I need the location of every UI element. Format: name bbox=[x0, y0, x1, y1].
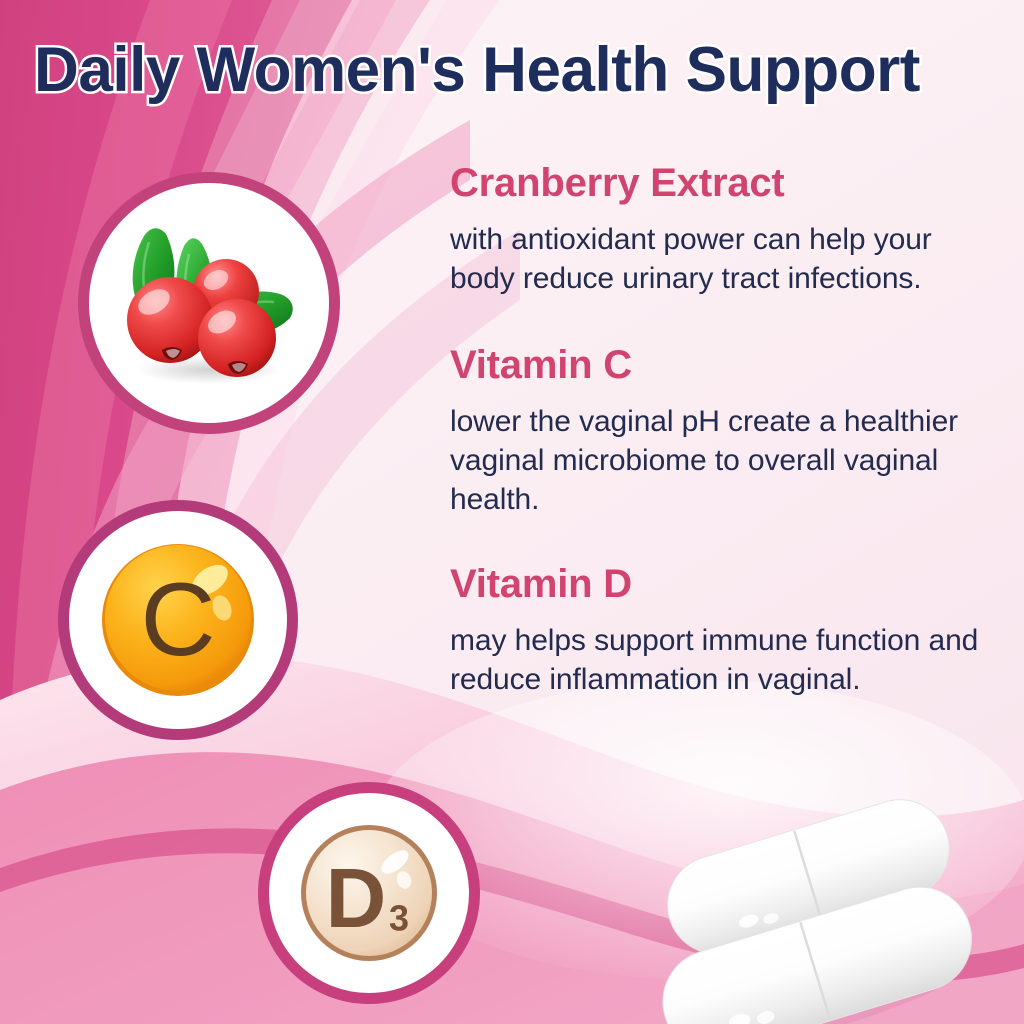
section-vitamin-c-body: lower the vaginal pH create a healthier … bbox=[450, 402, 995, 519]
vitamin-c-icon-circle: C bbox=[58, 500, 298, 740]
vitamin-d-icon: D 3 bbox=[294, 818, 444, 968]
section-vitamin-d-title: Vitamin D bbox=[450, 561, 995, 607]
page-title: Daily Women's Health Support bbox=[34, 36, 985, 104]
section-vitamin-c-title: Vitamin C bbox=[450, 342, 995, 388]
section-cranberry-body: with antioxidant power can help your bod… bbox=[450, 220, 995, 298]
vitamin-c-icon: C bbox=[94, 536, 262, 704]
section-cranberry-title: Cranberry Extract bbox=[450, 160, 995, 206]
vitamin-d-subscript: 3 bbox=[389, 898, 409, 939]
cranberry-icon bbox=[104, 198, 314, 408]
cranberry-icon-circle bbox=[78, 172, 340, 434]
section-cranberry: Cranberry Extract with antioxidant power… bbox=[450, 160, 995, 298]
capsules-illustration bbox=[610, 775, 1024, 1024]
section-vitamin-d-body: may helps support immune function and re… bbox=[450, 621, 995, 699]
poster-canvas: Daily Women's Health Support bbox=[0, 0, 1024, 1024]
section-vitamin-c: Vitamin C lower the vaginal pH create a … bbox=[450, 342, 995, 519]
vitamin-d-letter: D bbox=[326, 851, 387, 945]
content-column: Cranberry Extract with antioxidant power… bbox=[450, 160, 995, 699]
vitamin-c-letter: C bbox=[140, 562, 215, 678]
vitamin-d-icon-circle: D 3 bbox=[258, 782, 480, 1004]
section-vitamin-d: Vitamin D may helps support immune funct… bbox=[450, 561, 995, 699]
